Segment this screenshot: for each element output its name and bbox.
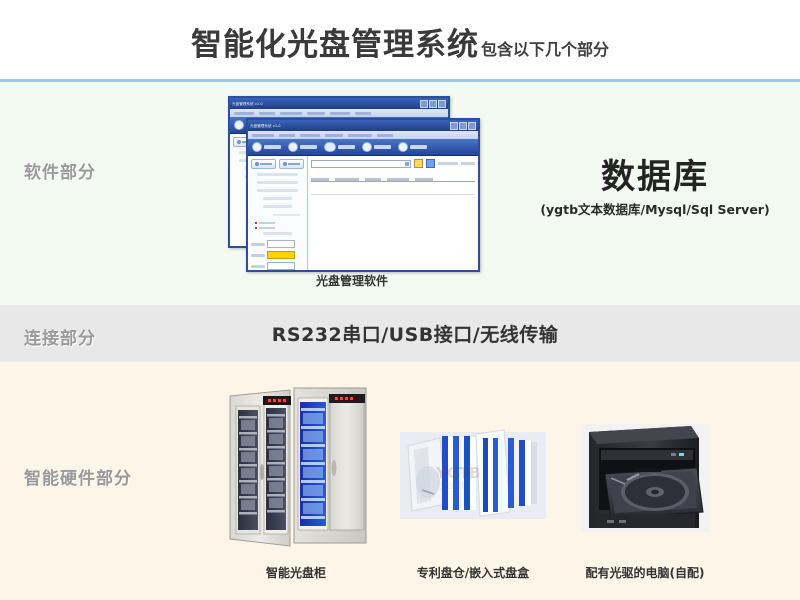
search-icon [398,142,408,152]
minimize-icon[interactable] [450,122,458,130]
close-icon[interactable] [438,100,446,108]
column-header[interactable] [415,178,433,181]
caption-hardware-1: 专利盘仓/嵌入式盘盒 [390,564,556,581]
disc-cabinet-photo [216,376,376,556]
minimize-icon[interactable] [420,100,428,108]
svg-text:光盘管理: 光盘管理 [440,481,468,490]
toolbar-button-import[interactable] [252,142,281,152]
sidebar-row[interactable] [257,173,298,176]
poster-root: 智能化光盘管理系统 包含以下几个部分 软件部分 光盘管理系统 v1.0 [0,0,800,600]
dropdown-icon [405,162,409,166]
window-menubar [230,109,448,117]
database-block: 数据库 (ygtb文本数据库/Mysql/Sql Server) [520,160,790,218]
column-header[interactable] [365,178,381,181]
toolbar-button-settings[interactable] [362,142,391,152]
toolbar-button-export[interactable] [288,142,317,152]
table-header-row [311,172,475,182]
window-menubar [248,131,478,139]
window-title-text: 光盘管理系统 v1.0 [250,123,281,128]
database-subtitle: (ygtb文本数据库/Mysql/Sql Server) [520,199,790,218]
column-header[interactable] [335,178,359,181]
toolbar-button-search[interactable] [398,142,427,152]
field-label [251,243,265,246]
menu-item[interactable] [348,134,372,137]
menu-item[interactable] [377,134,393,137]
software-screenshot: 光盘管理系统 v1.0 [228,96,476,268]
refresh-icon[interactable] [426,159,435,168]
window-main-panel [308,156,478,271]
caption-hardware-2: 配有光驱的电脑(自配) [565,564,725,581]
window-sidebar [248,156,308,271]
window-body [248,156,478,271]
sidebar-row[interactable] [263,232,292,235]
toolbar-button-label [410,145,427,149]
svg-text:YGTB: YGTB [435,464,481,482]
sidebar-tree-item[interactable] [255,227,304,229]
search-input[interactable] [311,160,411,168]
sidebar-tab-catalog[interactable] [251,159,276,169]
menu-item[interactable] [355,112,371,115]
menu-item[interactable] [252,134,274,137]
export-icon [288,142,298,152]
search-bar [311,159,475,168]
form-field-row [251,251,304,259]
sidebar-note [273,214,300,216]
row-divider [311,194,475,195]
folder-icon[interactable] [414,159,423,168]
menu-item[interactable] [259,112,275,115]
toolbar-button-disc[interactable] [324,142,355,152]
gear-icon [362,142,372,152]
window-titlebar: 光盘管理系统 v1.0 [230,98,448,109]
window-title-text: 光盘管理系统 v1.0 [232,101,263,106]
database-title: 数据库 [520,160,790,196]
close-icon[interactable] [468,122,476,130]
page-subtitle: 包含以下几个部分 [481,36,609,60]
sidebar-row[interactable] [257,181,298,184]
column-header[interactable] [311,178,329,181]
menu-item[interactable] [330,112,350,115]
caption-hardware-0: 智能光盘柜 [206,564,386,581]
sidebar-row[interactable] [257,189,298,192]
menu-item[interactable] [325,134,343,137]
menu-item[interactable] [234,112,254,115]
sidebar-tabs [251,159,304,169]
field-label [251,265,265,268]
section-label-hardware: 智能硬件部分 [24,464,132,489]
disc-tray-photo: YGTB 光盘管理 [400,416,546,535]
toolbar-button-label [374,145,391,149]
page-header: 智能化光盘管理系统 包含以下几个部分 [0,0,800,79]
maximize-icon[interactable] [459,122,467,130]
sidebar-form [251,240,304,272]
highlighted-text-field[interactable] [267,251,295,259]
disc-icon [324,142,336,152]
sidebar-tree-item[interactable] [255,222,304,224]
section-label-software: 软件部分 [24,158,96,183]
menu-item[interactable] [307,112,325,115]
window-controls [420,100,446,108]
sidebar-row[interactable] [263,205,292,208]
table-body[interactable] [311,194,475,246]
connection-text: RS232串口/USB接口/无线传输 [250,320,580,347]
window-toolbar [248,139,478,156]
text-field[interactable] [267,240,295,248]
maximize-icon[interactable] [429,100,437,108]
window-titlebar: 光盘管理系统 v1.0 [248,120,478,131]
toolbar-button-label [264,145,281,149]
section-label-connection: 连接部分 [24,324,96,349]
caption-software: 光盘管理软件 [228,272,476,289]
column-header[interactable] [387,178,409,181]
status-area [438,162,475,165]
page-title: 智能化光盘管理系统 [191,19,479,64]
menu-item[interactable] [279,134,295,137]
sidebar-row[interactable] [263,197,292,200]
form-field-row [251,262,304,270]
app-window-front: 光盘管理系统 v1.0 [246,118,480,272]
toolbar-button-label [300,145,317,149]
toolbar-button-label [338,145,355,149]
field-label [251,254,265,257]
text-field[interactable] [267,262,295,270]
menu-item[interactable] [300,134,320,137]
window-controls [450,122,476,130]
form-field-row [251,240,304,248]
import-icon [234,120,244,130]
menu-item[interactable] [280,112,302,115]
header-title-group: 智能化光盘管理系统 包含以下几个部分 [191,19,609,64]
sidebar-tab-disc[interactable] [279,159,304,169]
computer-with-optical-drive-photo [575,416,715,540]
import-icon [252,142,262,152]
